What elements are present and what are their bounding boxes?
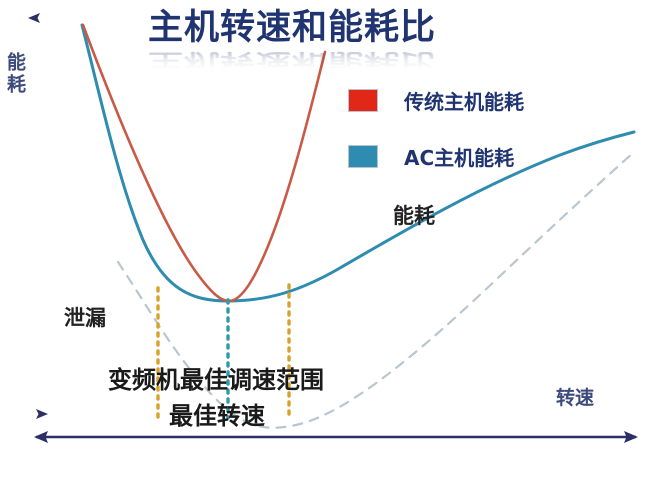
energy-speed-chart — [0, 0, 650, 481]
chart-legend: 传统主机能耗 AC主机能耗 — [348, 72, 524, 184]
legend-swatch-teal — [348, 145, 378, 168]
optimal-speed-label: 最佳转速 — [169, 396, 265, 431]
legend-label-ac: AC主机能耗 — [404, 142, 514, 171]
energy-curve-label: 能耗 — [393, 200, 435, 230]
legend-label-traditional: 传统主机能耗 — [404, 86, 524, 115]
legend-swatch-red — [348, 89, 378, 112]
chart-canvas: 主机转速和能耗比 主机转速和能耗比 传统主机能耗 AC主机能耗 能耗 转速 能耗… — [0, 0, 650, 481]
optimal-range-label: 变频机最佳调速范围 — [108, 360, 324, 395]
leakage-label: 泄漏 — [64, 302, 106, 332]
y-axis-label: 能耗 — [2, 52, 29, 96]
series-traditional-curve — [83, 25, 325, 301]
legend-item-ac[interactable]: AC主机能耗 — [348, 128, 524, 184]
legend-item-traditional[interactable]: 传统主机能耗 — [348, 72, 524, 128]
x-axis-label: 转速 — [556, 383, 594, 410]
